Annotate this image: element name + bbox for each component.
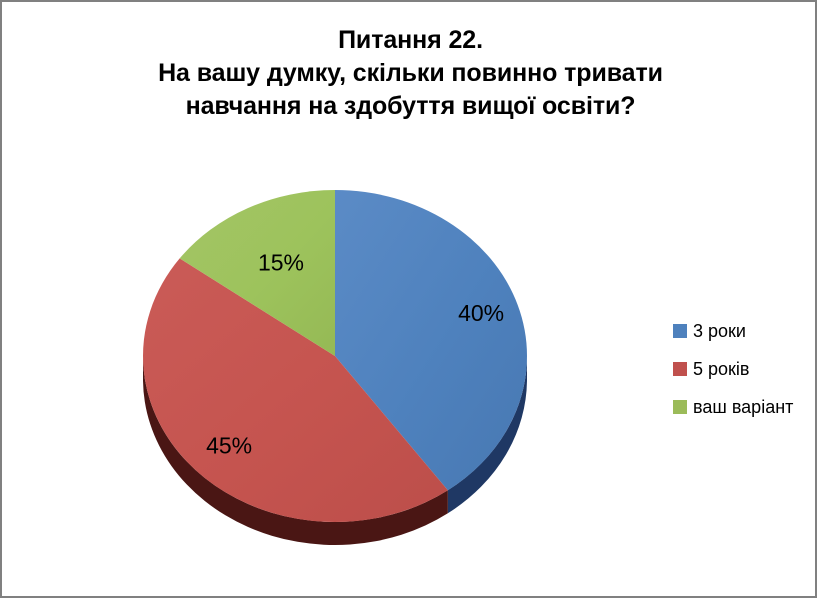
legend-item-5-rokiv[interactable]: 5 років xyxy=(673,350,811,388)
legend-item-3-roky[interactable]: 3 роки xyxy=(673,312,811,350)
legend-swatch-series-2 xyxy=(673,362,687,376)
chart-title-line-2: На вашу думку, скільки повинно тривати xyxy=(2,57,817,90)
chart-title-line-3: навчання на здобуття вищої освіти? xyxy=(2,90,817,123)
pie-data-label-series-2: 45% xyxy=(206,433,252,459)
legend-item-vash-variant[interactable]: ваш варіант xyxy=(673,388,811,426)
legend-swatch-series-3 xyxy=(673,400,687,414)
legend-swatch-series-1 xyxy=(673,324,687,338)
pie-chart: 40%45%15% xyxy=(10,162,670,572)
chart-image: Питання 22. На вашу думку, скільки повин… xyxy=(0,0,817,598)
chart-title-line-1: Питання 22. xyxy=(2,24,817,57)
pie-data-label-series-3: 15% xyxy=(258,249,304,275)
plot-area: 40%45%15% xyxy=(10,162,670,572)
legend-label-series-2: 5 років xyxy=(693,359,749,380)
chart-legend: 3 роки 5 років ваш варіант xyxy=(673,312,811,426)
chart-title: Питання 22. На вашу думку, скільки повин… xyxy=(2,24,817,123)
pie-top-faces xyxy=(143,190,527,522)
pie-data-label-series-1: 40% xyxy=(458,300,504,326)
legend-label-series-3: ваш варіант xyxy=(693,397,793,418)
legend-label-series-1: 3 роки xyxy=(693,321,746,342)
